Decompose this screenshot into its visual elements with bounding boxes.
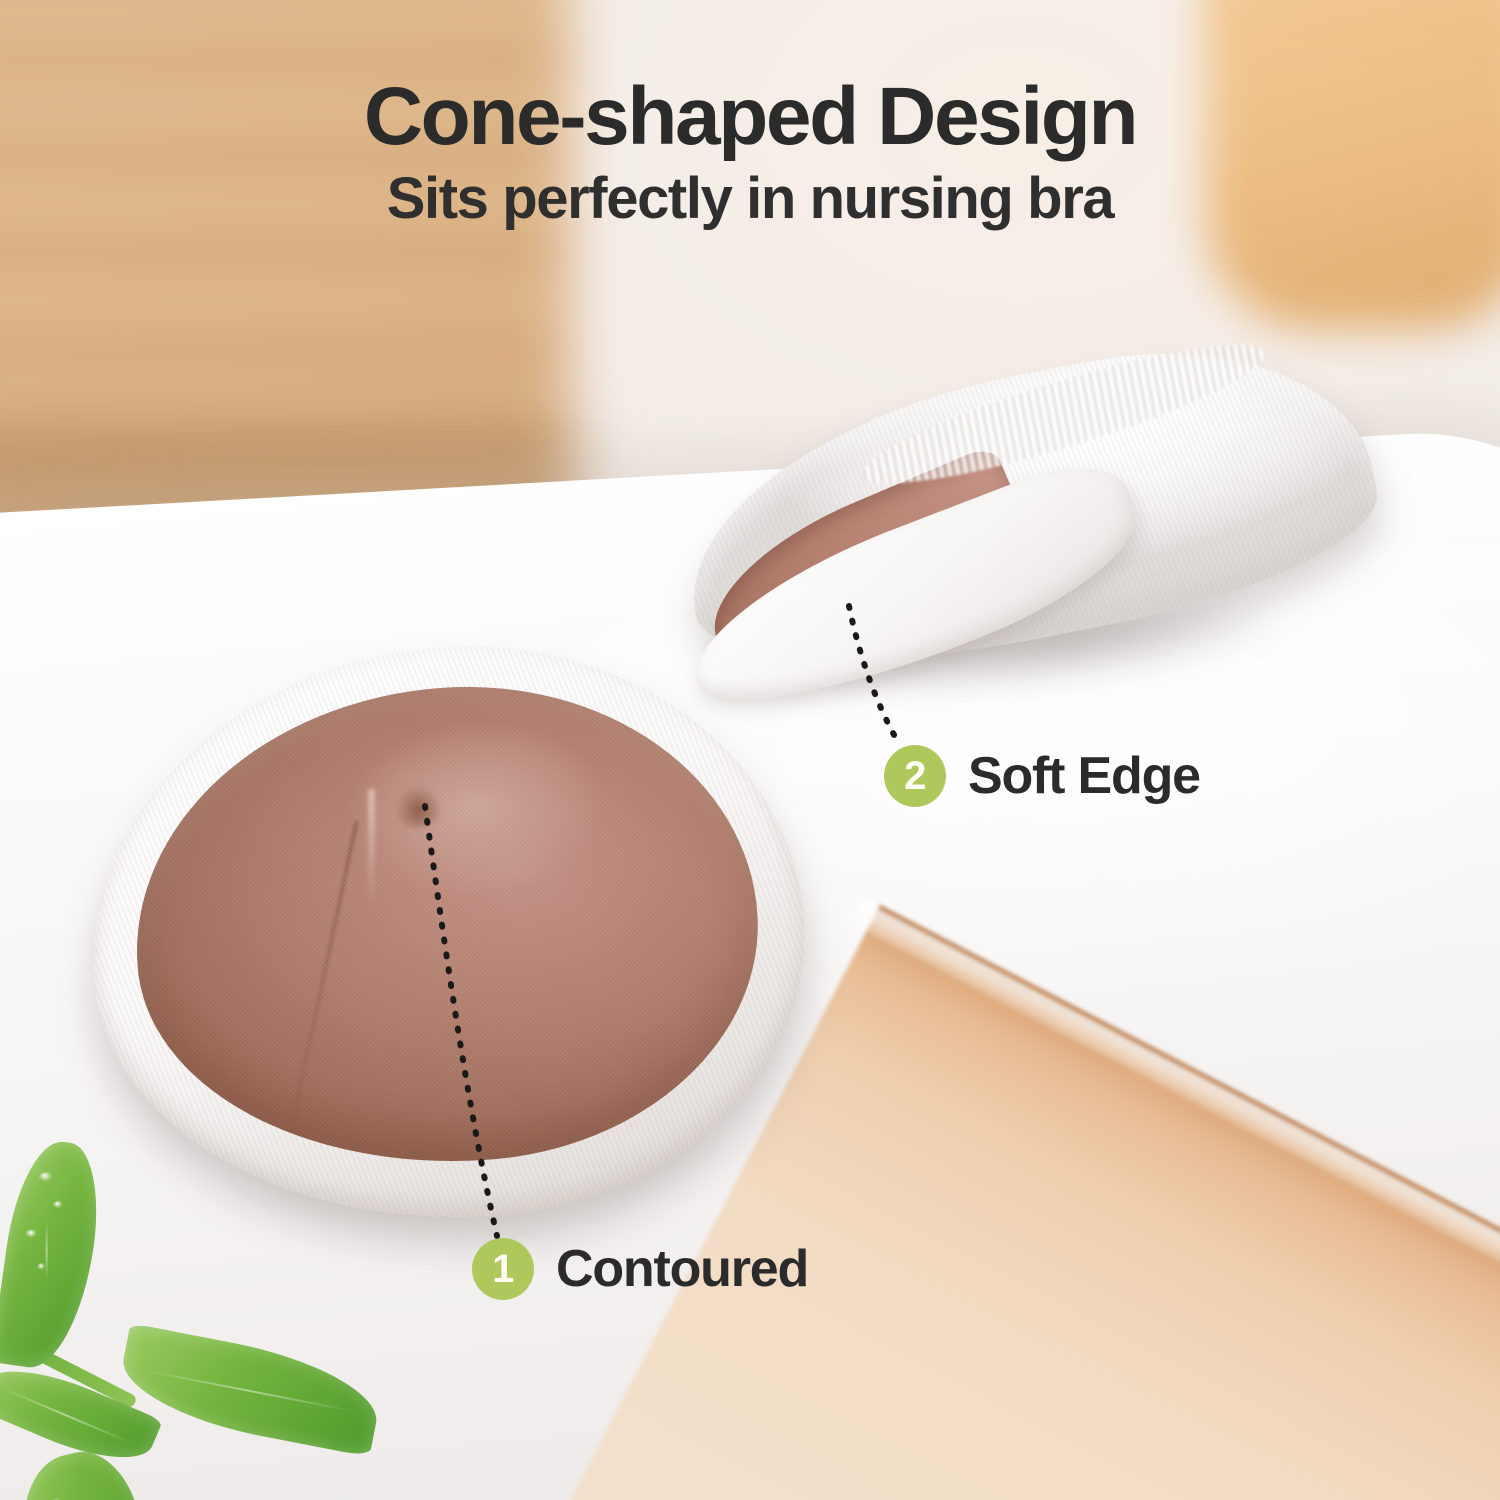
page-title: Cone-shaped Design xyxy=(0,74,1500,159)
leaf-vein xyxy=(46,1221,48,1281)
bamboo-leaf xyxy=(0,1136,107,1374)
callout-badge-2: 2 xyxy=(884,745,946,807)
heading-block: Cone-shaped Design Sits perfectly in nur… xyxy=(0,74,1500,232)
infographic-canvas: 2 Soft Edge 1 Contoured Cone-shaped Desi… xyxy=(0,0,1500,1500)
callout-badge-1: 1 xyxy=(472,1238,534,1300)
callout-soft-edge[interactable]: 2 Soft Edge xyxy=(884,745,1200,807)
pad-pink-face xyxy=(120,667,774,1183)
nursing-pad-top-view xyxy=(73,624,823,1242)
dew-drop xyxy=(50,1497,65,1500)
page-subtitle: Sits perfectly in nursing bra xyxy=(0,167,1500,232)
leaf-vein xyxy=(142,1369,357,1413)
dew-drop xyxy=(52,1200,65,1212)
callout-contoured[interactable]: 1 Contoured xyxy=(472,1238,808,1300)
callout-label-contoured: Contoured xyxy=(556,1239,808,1299)
pad-cone-peak xyxy=(380,768,450,830)
pad-fabric-fold xyxy=(368,789,375,909)
dew-drop xyxy=(38,1171,57,1186)
dew-drop xyxy=(25,1229,40,1242)
callout-label-soft-edge: Soft Edge xyxy=(968,746,1200,806)
pad-dart-seam xyxy=(284,820,359,1153)
